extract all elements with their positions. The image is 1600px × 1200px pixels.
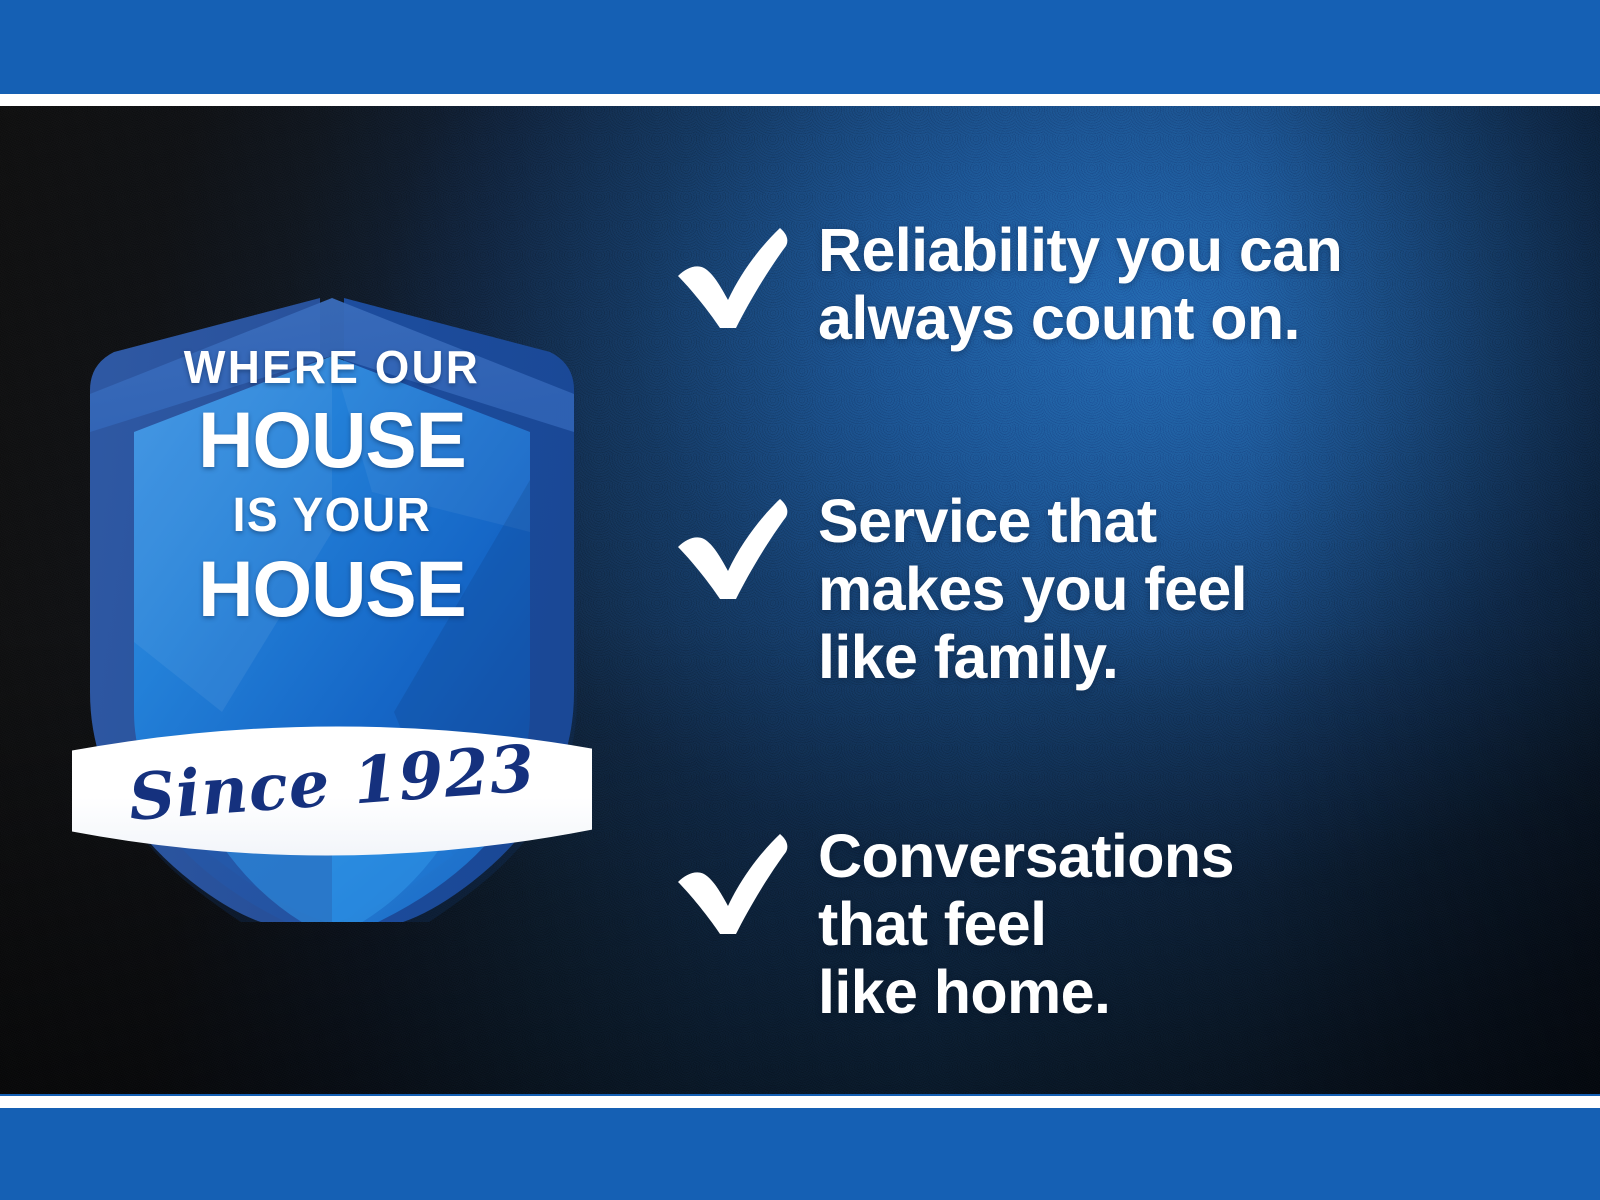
benefit-item: Conversations that feel like home. (668, 820, 1528, 1027)
main-canvas: WHERE OUR HOUSE IS YOUR HOUSE Since 1923… (0, 106, 1600, 1094)
shield-icon (72, 282, 592, 922)
top-brand-bar (0, 0, 1600, 94)
check-mark-icon (668, 218, 796, 336)
promotional-graphic: WHERE OUR HOUSE IS YOUR HOUSE Since 1923… (0, 0, 1600, 1200)
bottom-white-divider (0, 1096, 1600, 1108)
bottom-brand-bar (0, 1108, 1600, 1200)
check-mark-icon (668, 824, 796, 942)
check-mark-icon (668, 489, 796, 607)
company-shield-badge: WHERE OUR HOUSE IS YOUR HOUSE Since 1923 (72, 282, 592, 922)
benefit-item: Service that makes you feel like family. (668, 485, 1528, 692)
top-white-divider (0, 94, 1600, 106)
benefit-item: Reliability you can always count on. (668, 214, 1528, 353)
benefits-list: Reliability you can always count on. Ser… (668, 214, 1528, 1027)
benefit-text: Reliability you can always count on. (818, 214, 1342, 353)
benefit-text: Conversations that feel like home. (818, 820, 1234, 1027)
benefit-text: Service that makes you feel like family. (818, 485, 1247, 692)
shield-ribbon (72, 726, 592, 855)
